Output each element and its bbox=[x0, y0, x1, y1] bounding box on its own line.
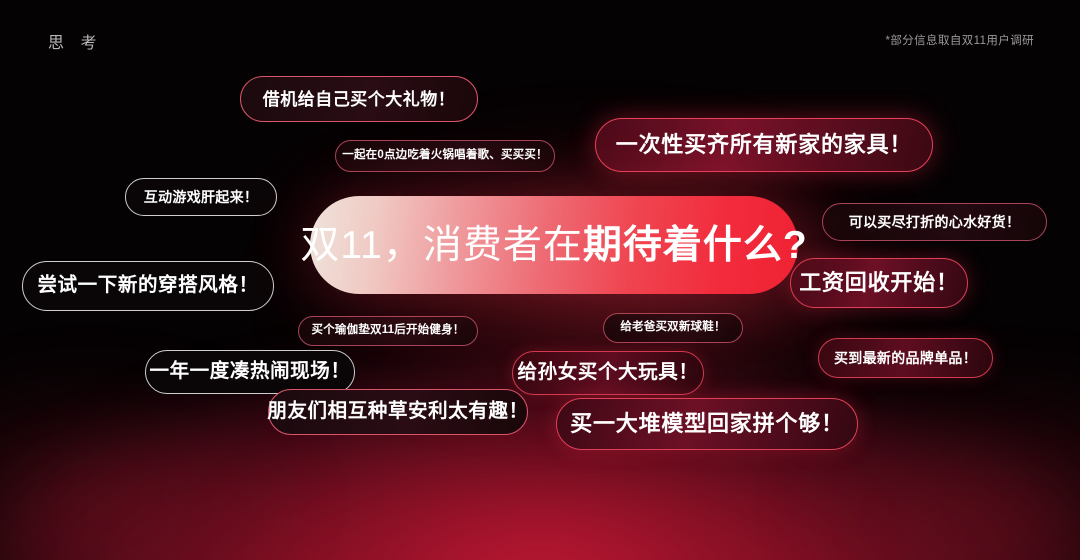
background-glow-bottom-core bbox=[230, 450, 850, 560]
bubble-game-label: 互动游戏肝起来！ bbox=[144, 190, 258, 204]
bubble-brand[interactable]: 买到最新的品牌单品！ bbox=[818, 338, 993, 378]
hero-headline: 双11，消费者在期待着什么? bbox=[300, 226, 807, 265]
hero-bubble[interactable]: 双11，消费者在期待着什么? bbox=[310, 196, 798, 294]
bubble-toy-label: 给孙女买个大玩具！ bbox=[518, 363, 699, 383]
bubble-outfit[interactable]: 尝试一下新的穿搭风格！ bbox=[22, 261, 274, 311]
bubble-models[interactable]: 买一大堆模型回家拼个够！ bbox=[556, 398, 858, 450]
bubble-hotpot-label: 一起在0点边吃着火锅唱着歌、买买买！ bbox=[342, 150, 548, 162]
bubble-brand-label: 买到最新的品牌单品！ bbox=[834, 351, 977, 365]
bubble-models-label: 买一大堆模型回家拼个够！ bbox=[570, 413, 844, 435]
bubble-sneakers-label: 给老爸买双新球鞋！ bbox=[620, 322, 725, 334]
bubble-discount[interactable]: 可以买尽打折的心水好货！ bbox=[822, 203, 1047, 241]
page-footnote: *部分信息取自双11用户调研 bbox=[885, 32, 1034, 48]
bubble-gift[interactable]: 借机给自己买个大礼物！ bbox=[240, 76, 478, 122]
bubble-salary-label: 工资回收开始！ bbox=[799, 272, 959, 294]
bubble-toy[interactable]: 给孙女买个大玩具！ bbox=[512, 351, 704, 395]
bubble-friends[interactable]: 朋友们相互种草安利太有趣！ bbox=[268, 389, 528, 435]
bubble-sneakers[interactable]: 给老爸买双新球鞋！ bbox=[603, 313, 743, 343]
bubble-outfit-label: 尝试一下新的穿搭风格！ bbox=[37, 276, 258, 296]
bubble-furniture[interactable]: 一次性买齐所有新家的家具！ bbox=[595, 118, 933, 172]
bubble-game[interactable]: 互动游戏肝起来！ bbox=[125, 178, 277, 216]
hero-headline-normal: 双11，消费者在 bbox=[300, 224, 583, 267]
bubble-annual-label: 一年一度凑热闹现场！ bbox=[149, 362, 350, 382]
bubble-annual[interactable]: 一年一度凑热闹现场！ bbox=[145, 350, 355, 394]
slide-canvas: 思 考 *部分信息取自双11用户调研 借机给自己买个大礼物！ 一起在0点边吃着火… bbox=[0, 0, 1080, 560]
bubble-hotpot[interactable]: 一起在0点边吃着火锅唱着歌、买买买！ bbox=[335, 140, 555, 172]
bubble-gift-label: 借机给自己买个大礼物！ bbox=[263, 91, 456, 108]
bubble-friends-label: 朋友们相互种草安利太有趣！ bbox=[267, 402, 528, 422]
bubble-furniture-label: 一次性买齐所有新家的家具！ bbox=[616, 134, 912, 156]
background-glow-left bbox=[0, 380, 300, 560]
hero-headline-bold: 期待着什么? bbox=[583, 224, 808, 267]
bubble-yoga[interactable]: 买个瑜伽垫双11后开始健身！ bbox=[298, 316, 478, 346]
page-kicker: 思 考 bbox=[48, 29, 102, 53]
bubble-yoga-label: 买个瑜伽垫双11后开始健身！ bbox=[312, 325, 465, 337]
bubble-salary[interactable]: 工资回收开始！ bbox=[790, 258, 968, 308]
bubble-discount-label: 可以买尽打折的心水好货！ bbox=[849, 215, 1021, 229]
